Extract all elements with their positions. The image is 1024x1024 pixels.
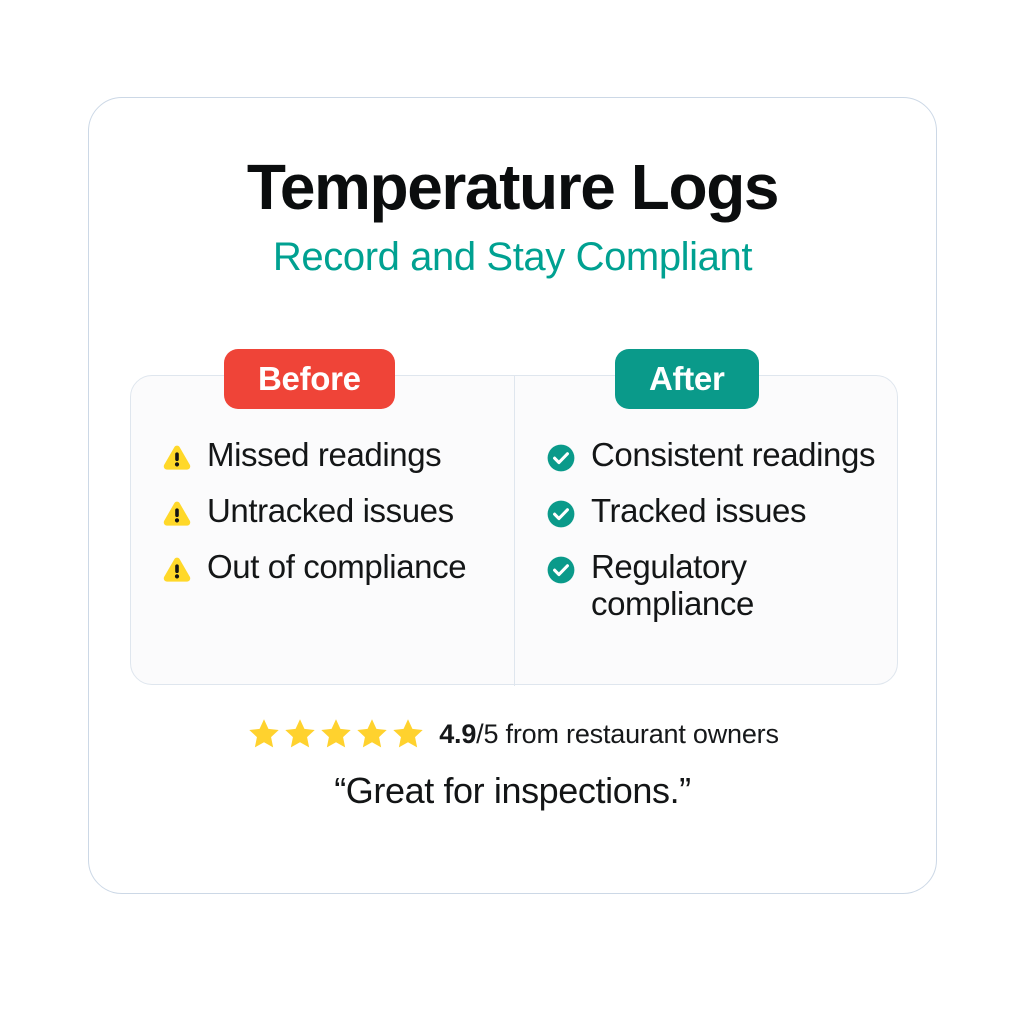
rating-suffix: /5 from restaurant owners: [476, 719, 779, 749]
testimonial-quote: “Great for inspections.”: [89, 770, 936, 812]
star-icon: [390, 716, 426, 752]
list-item-label: Missed readings: [207, 437, 441, 474]
check-circle-icon: [544, 441, 578, 475]
page-subtitle: Record and Stay Compliant: [89, 235, 936, 279]
badge-before-label: Before: [258, 360, 361, 398]
list-item: Tracked issues: [544, 493, 896, 531]
star-rating: [246, 716, 426, 752]
star-icon: [354, 716, 390, 752]
list-item: Untracked issues: [160, 493, 512, 531]
list-item-label: Consistent readings: [591, 437, 875, 474]
rating-text: 4.9/5 from restaurant owners: [439, 719, 779, 750]
check-circle-icon: [544, 553, 578, 587]
star-icon: [318, 716, 354, 752]
list-item: Regulatory compliance: [544, 549, 896, 623]
column-divider: [514, 376, 515, 686]
star-icon: [246, 716, 282, 752]
list-item: Consistent readings: [544, 437, 896, 475]
warning-triangle-icon: [160, 441, 194, 475]
page-title: Temperature Logs: [89, 154, 936, 221]
before-column: Missed readings Untracked issues: [160, 437, 512, 587]
rating-score: 4.9: [439, 719, 476, 749]
list-item-label: Untracked issues: [207, 493, 454, 530]
comparison-section: Before After Missed readings: [130, 375, 898, 685]
badge-after: After: [615, 349, 759, 409]
badge-before: Before: [224, 349, 395, 409]
list-item-label: Tracked issues: [591, 493, 806, 530]
badge-after-label: After: [649, 360, 725, 398]
page-root: Temperature Logs Record and Stay Complia…: [0, 0, 1024, 1024]
list-item: Missed readings: [160, 437, 512, 475]
list-item: Out of compliance: [160, 549, 512, 587]
list-item-label: Regulatory compliance: [591, 549, 896, 623]
list-item-label: Out of compliance: [207, 549, 466, 586]
after-column: Consistent readings Tracked issues: [544, 437, 896, 623]
star-icon: [282, 716, 318, 752]
warning-triangle-icon: [160, 553, 194, 587]
promo-card: Temperature Logs Record and Stay Complia…: [88, 97, 937, 894]
card-header: Temperature Logs Record and Stay Complia…: [89, 154, 936, 279]
check-circle-icon: [544, 497, 578, 531]
warning-triangle-icon: [160, 497, 194, 531]
rating-row: 4.9/5 from restaurant owners: [89, 716, 936, 752]
